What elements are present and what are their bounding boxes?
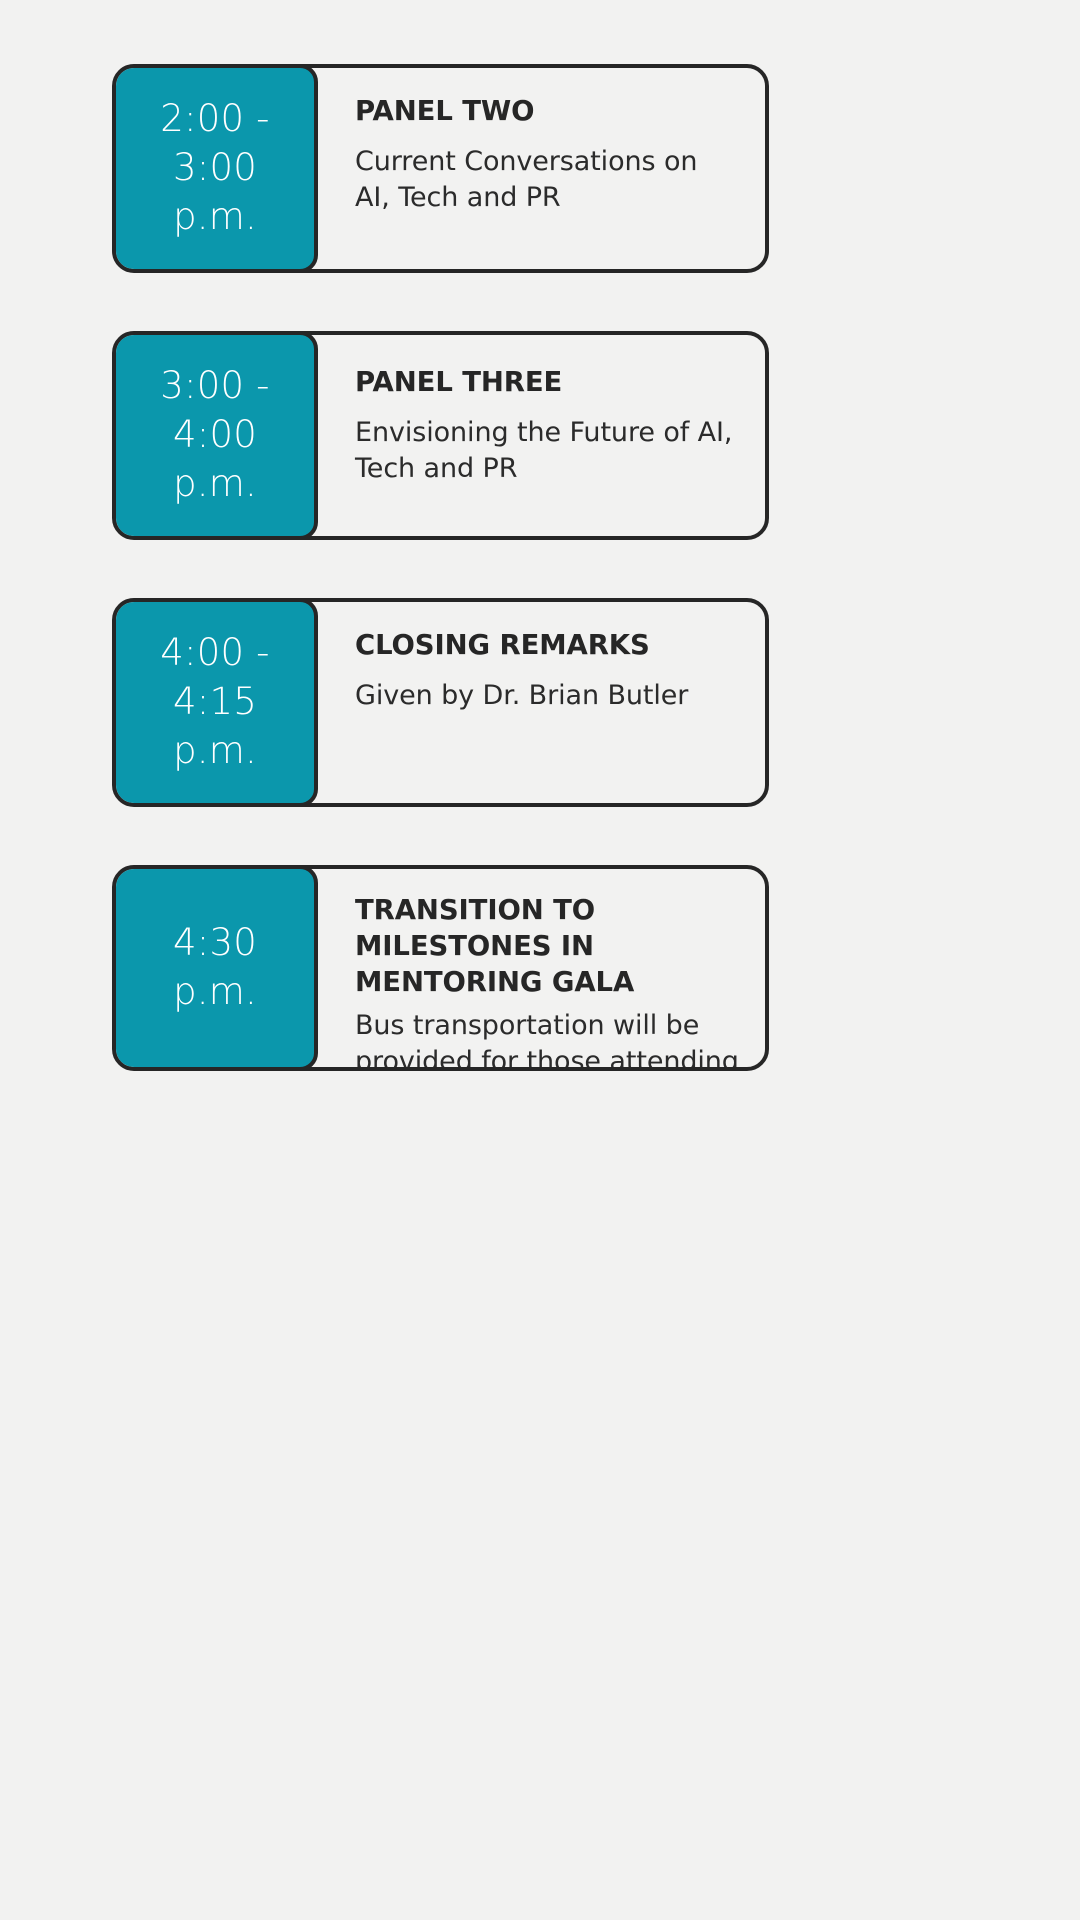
schedule-card-time-block: 2:00 - 3:00 p.m. bbox=[112, 64, 318, 273]
schedule-card-time-label: 3:00 - 4:00 p.m. bbox=[126, 362, 304, 508]
schedule-card-body: CLOSING REMARKS Given by Dr. Brian Butle… bbox=[318, 602, 765, 803]
schedule-card-description: Envisioning the Future of AI, Tech and P… bbox=[355, 415, 739, 487]
schedule-card-description: Bus transportation will be provided for … bbox=[355, 1008, 739, 1071]
schedule-card-title: CLOSING REMARKS bbox=[355, 628, 739, 664]
schedule-card-body: PANEL TWO Current Conversations on AI, T… bbox=[318, 68, 765, 269]
schedule-card-time-label: 4:00 - 4:15 p.m. bbox=[126, 629, 304, 775]
schedule-card-time-block: 4:00 - 4:15 p.m. bbox=[112, 598, 318, 807]
schedule-card[interactable]: 3:00 - 4:00 p.m. PANEL THREE Envisioning… bbox=[112, 331, 769, 540]
schedule-card-title: PANEL THREE bbox=[355, 365, 739, 401]
schedule-card-body: TRANSITION TO MILESTONES IN MENTORING GA… bbox=[318, 869, 765, 1067]
schedule-card-time-label: 4:30 p.m. bbox=[126, 919, 304, 1017]
schedule-card-time-block: 3:00 - 4:00 p.m. bbox=[112, 331, 318, 540]
schedule-card[interactable]: 4:30 p.m. TRANSITION TO MILESTONES IN ME… bbox=[112, 865, 769, 1071]
schedule-card-title: TRANSITION TO MILESTONES IN MENTORING GA… bbox=[355, 893, 739, 1000]
schedule-card-title: PANEL TWO bbox=[355, 94, 739, 130]
schedule-card-time-block: 4:30 p.m. bbox=[112, 865, 318, 1071]
schedule-card-body: PANEL THREE Envisioning the Future of AI… bbox=[318, 335, 765, 536]
schedule-card-description: Current Conversations on AI, Tech and PR bbox=[355, 144, 739, 216]
schedule-page: 2:00 - 3:00 p.m. PANEL TWO Current Conve… bbox=[0, 0, 1080, 1920]
schedule-card[interactable]: 2:00 - 3:00 p.m. PANEL TWO Current Conve… bbox=[112, 64, 769, 273]
schedule-list: 2:00 - 3:00 p.m. PANEL TWO Current Conve… bbox=[112, 64, 769, 1129]
schedule-card-description: Given by Dr. Brian Butler bbox=[355, 678, 739, 714]
schedule-card[interactable]: 4:00 - 4:15 p.m. CLOSING REMARKS Given b… bbox=[112, 598, 769, 807]
schedule-card-time-label: 2:00 - 3:00 p.m. bbox=[126, 95, 304, 241]
